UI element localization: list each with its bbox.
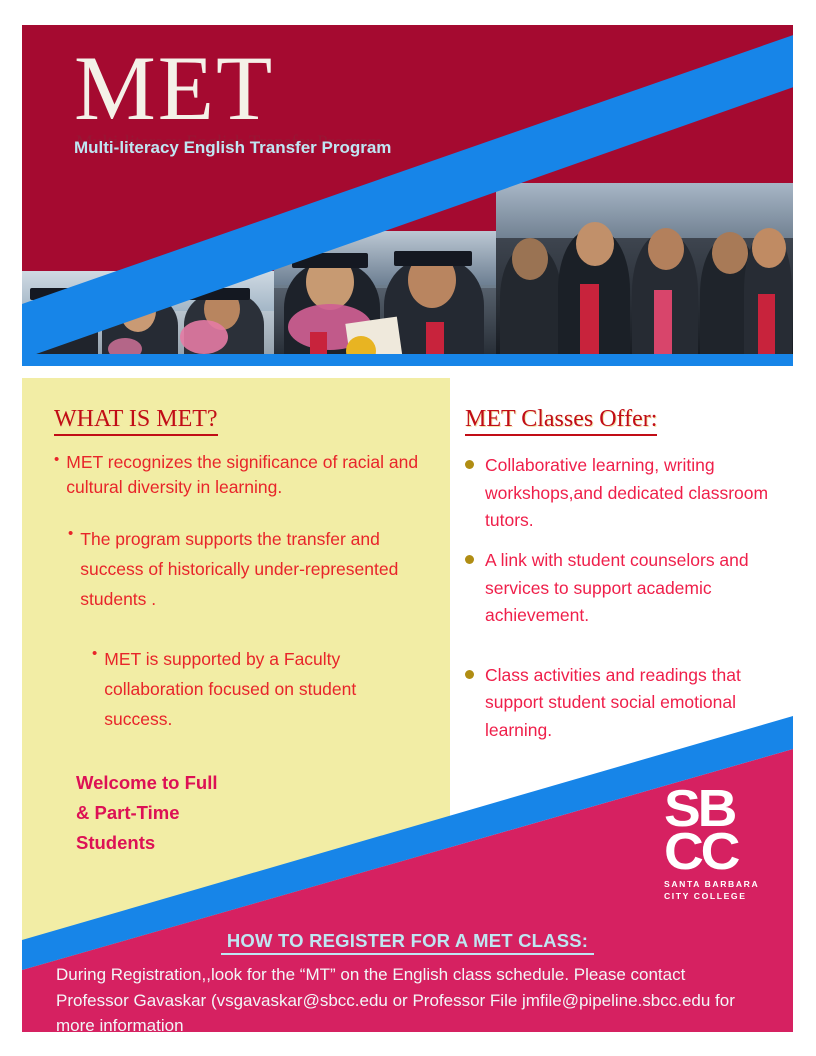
register-heading: HOW TO REGISTER FOR A MET CLASS: — [22, 930, 793, 955]
left-column-heading: WHAT IS MET? — [54, 406, 218, 436]
right-bullet-2: A link with student counselors and servi… — [465, 547, 793, 630]
register-body-text: During Registration,,look for the “MT” o… — [22, 962, 793, 1032]
body-area: WHAT IS MET? • MET recognizes the signif… — [22, 378, 793, 1032]
bullet-dot-icon — [465, 460, 474, 469]
title-block: MET Multi-literacy English Transfer Prog… — [74, 45, 494, 194]
header-banner: MET Multi-literacy English Transfer Prog… — [22, 25, 793, 366]
left-bullet-2-text: The program supports the transfer and su… — [80, 524, 424, 614]
register-section: HOW TO REGISTER FOR A MET CLASS: During … — [22, 930, 793, 1032]
left-bullet-3: • MET is supported by a Faculty collabor… — [92, 644, 424, 734]
bullet-dot-icon — [465, 555, 474, 564]
sbcc-logo-letters: SB CC — [664, 788, 768, 873]
welcome-line-3: Students — [76, 828, 424, 858]
subtitle-stack: Multi-literacy English Transfer Program … — [74, 136, 494, 194]
sbcc-logo-sub-line-2: CITY COLLEGE — [664, 891, 762, 902]
sbcc-logo: SB CC SANTA BARBARA CITY COLLEGE — [664, 788, 762, 902]
left-bullet-1-text: MET recognizes the significance of racia… — [66, 450, 424, 500]
left-bullet-2: • The program supports the transfer and … — [68, 524, 424, 614]
welcome-block: Welcome to Full & Part-Time Students — [76, 768, 424, 858]
page-subtitle: Multi-literacy English Transfer Program — [74, 136, 404, 159]
right-column-heading: MET Classes Offer: — [465, 406, 657, 436]
page-title: MET — [74, 45, 494, 132]
left-bullet-3-text: MET is supported by a Faculty collaborat… — [104, 644, 424, 734]
right-bullet-1: Collaborative learning, writing workshop… — [465, 452, 793, 535]
header-bottom-blue-bar — [22, 354, 793, 366]
sbcc-logo-sub-line-1: SANTA BARBARA — [664, 879, 762, 890]
right-bullet-3: Class activities and readings that suppo… — [465, 662, 793, 745]
sbcc-logo-line-2: CC — [664, 831, 768, 874]
bullet-dot-icon: • — [68, 524, 73, 614]
left-bullet-1: • MET recognizes the significance of rac… — [54, 450, 424, 500]
right-bullet-1-text: Collaborative learning, writing workshop… — [485, 452, 793, 535]
welcome-line-1: Welcome to Full — [76, 768, 424, 798]
bullet-dot-icon: • — [92, 644, 97, 734]
bullet-dot-icon — [465, 670, 474, 679]
right-bullet-2-text: A link with student counselors and servi… — [485, 547, 793, 630]
welcome-line-2: & Part-Time — [76, 798, 424, 828]
flyer-page: MET Multi-literacy English Transfer Prog… — [0, 0, 816, 1056]
register-heading-text: HOW TO REGISTER FOR A MET CLASS: — [221, 930, 594, 955]
flyer-card: MET Multi-literacy English Transfer Prog… — [22, 25, 793, 1032]
right-bullet-3-text: Class activities and readings that suppo… — [485, 662, 793, 745]
bullet-dot-icon: • — [54, 450, 59, 500]
sbcc-logo-subtext: SANTA BARBARA CITY COLLEGE — [664, 879, 762, 902]
